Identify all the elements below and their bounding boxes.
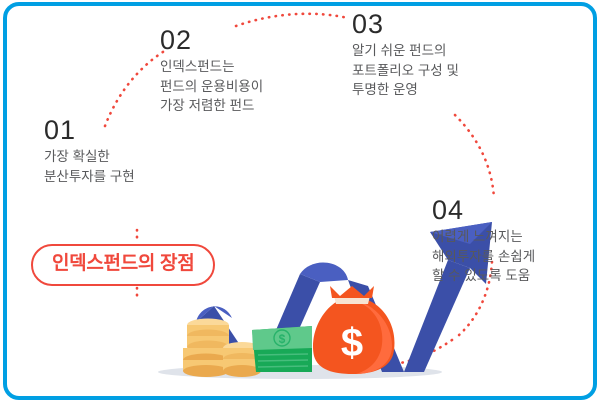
- cash-stack: $: [252, 326, 312, 372]
- step-number-03: 03: [352, 10, 459, 38]
- step-item-03: 03 알기 쉬운 펀드의 포트폴리오 구성 및 투명한 운영: [352, 10, 459, 99]
- arc-03-to-04: [455, 115, 494, 198]
- coin-edge-right-2: [223, 365, 261, 377]
- cash-dollar-symbol: $: [279, 332, 286, 346]
- step-text-01: 가장 확실한 분산투자를 구현: [44, 147, 135, 185]
- step-number-02: 02: [160, 26, 263, 54]
- center-badge: 인덱스펀드의 장점: [31, 244, 215, 286]
- money-bag: $: [313, 286, 395, 374]
- step-text-02: 인덱스펀드는 펀드의 운용비용이 가장 저렴한 펀드: [160, 57, 263, 114]
- step-item-01: 01 가장 확실한 분산투자를 구현: [44, 116, 135, 186]
- step-item-02: 02 인덱스펀드는 펀드의 운용비용이 가장 저렴한 펀드: [160, 26, 263, 115]
- money-bag-dollar-symbol: $: [341, 321, 363, 365]
- step-text-03: 알기 쉬운 펀드의 포트폴리오 구성 및 투명한 운영: [352, 41, 459, 98]
- coin-stack: [183, 319, 261, 378]
- step-text-04: 어렵게 느껴지는 해외투자를 손쉽게 할 수 있도록 도움: [432, 227, 535, 284]
- step-item-04: 04 어렵게 느껴지는 해외투자를 손쉽게 할 수 있도록 도움: [432, 196, 535, 285]
- arc-01-to-02: [105, 50, 166, 126]
- infographic-root: $ $ 01 가장 확실한 분산투자를 구현 02 인덱스펀드는 펀드의 운용비…: [0, 0, 600, 403]
- step-number-01: 01: [44, 116, 135, 144]
- coin-edge-bottom-2: [183, 365, 229, 377]
- arc-02-to-03: [236, 14, 348, 26]
- step-number-04: 04: [432, 196, 535, 224]
